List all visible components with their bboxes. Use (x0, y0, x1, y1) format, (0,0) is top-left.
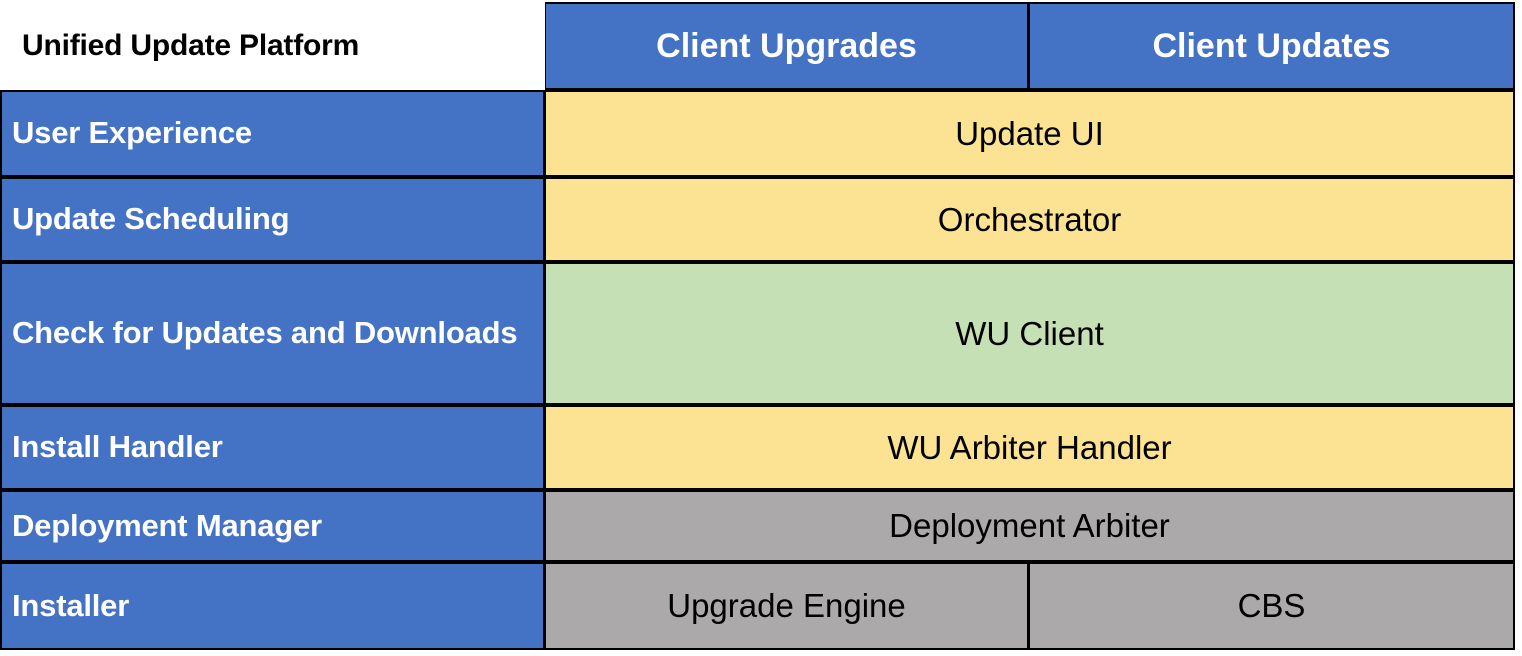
row-label-check-for-updates-and-downloads: Check for Updates and Downloads (0, 262, 545, 405)
column-header-client-upgrades-label: Client Upgrades (656, 27, 917, 66)
row-value-check-for-updates-and-downloads: WU Client (545, 262, 1515, 405)
row-value-installer-client-upgrades: Upgrade Engine (545, 562, 1029, 650)
table-row-install-handler: Install Handler WU Arbiter Handler (0, 405, 1515, 490)
column-header-client-updates: Client Updates (1029, 2, 1515, 90)
unified-update-platform-table: Unified Update Platform Client Upgrades … (0, 0, 1522, 656)
row-label-update-scheduling-text: Update Scheduling (12, 201, 535, 238)
row-value-deployment-manager: Deployment Arbiter (545, 490, 1515, 562)
row-label-installer-text: Installer (12, 588, 535, 625)
table-row-deployment-manager: Deployment Manager Deployment Arbiter (0, 490, 1515, 562)
row-label-install-handler-text: Install Handler (12, 429, 535, 466)
row-label-install-handler: Install Handler (0, 405, 545, 490)
table-row-installer: Installer Upgrade Engine CBS (0, 562, 1515, 650)
table-row-user-experience: User Experience Update UI (0, 90, 1515, 177)
row-value-installer-client-upgrades-text: Upgrade Engine (667, 587, 906, 625)
table-row-update-scheduling: Update Scheduling Orchestrator (0, 177, 1515, 262)
table-corner-title: Unified Update Platform (0, 2, 545, 90)
row-value-user-experience: Update UI (545, 90, 1515, 177)
row-label-user-experience-text: User Experience (12, 115, 535, 152)
table-header-row: Unified Update Platform Client Upgrades … (0, 2, 1515, 90)
row-value-install-handler: WU Arbiter Handler (545, 405, 1515, 490)
row-value-update-scheduling: Orchestrator (545, 177, 1515, 262)
row-value-update-scheduling-text: Orchestrator (938, 201, 1121, 239)
row-value-install-handler-text: WU Arbiter Handler (887, 429, 1171, 467)
row-value-installer-client-updates-text: CBS (1238, 587, 1306, 625)
row-label-check-for-updates-and-downloads-text: Check for Updates and Downloads (12, 315, 535, 352)
row-label-deployment-manager: Deployment Manager (0, 490, 545, 562)
row-value-check-for-updates-and-downloads-text: WU Client (955, 315, 1104, 353)
row-label-user-experience: User Experience (0, 90, 545, 177)
row-label-installer: Installer (0, 562, 545, 650)
column-header-client-upgrades: Client Upgrades (545, 2, 1029, 90)
row-value-installer-client-updates: CBS (1029, 562, 1515, 650)
column-header-client-updates-label: Client Updates (1152, 27, 1390, 66)
row-label-deployment-manager-text: Deployment Manager (12, 508, 535, 545)
row-value-deployment-manager-text: Deployment Arbiter (889, 507, 1170, 545)
row-label-update-scheduling: Update Scheduling (0, 177, 545, 262)
table-row-check-for-updates-and-downloads: Check for Updates and Downloads WU Clien… (0, 262, 1515, 405)
table-corner-title-text: Unified Update Platform (22, 28, 537, 63)
row-value-user-experience-text: Update UI (955, 115, 1104, 153)
